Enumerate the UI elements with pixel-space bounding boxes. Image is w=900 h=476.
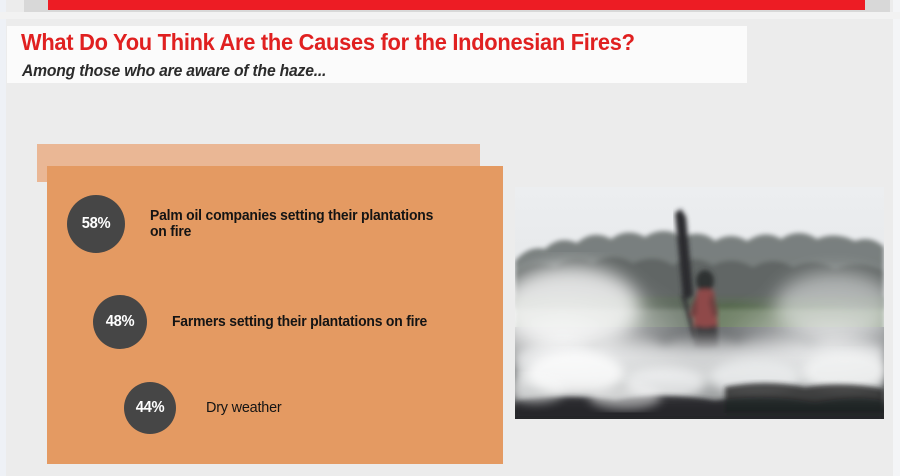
stat-value: 48% — [106, 313, 135, 331]
stat-row: 48% Farmers setting their plantations on… — [93, 295, 482, 349]
stat-value: 44% — [136, 399, 165, 417]
left-edge-divider — [0, 0, 6, 476]
stat-label: Palm oil companies setting their plantat… — [150, 208, 438, 240]
page-subtitle: Among those who are aware of the haze... — [22, 62, 725, 81]
stat-bubble: 48% — [93, 295, 147, 349]
fire-smoke-illustration — [515, 187, 884, 419]
stat-row: 58% Palm oil companies setting their pla… — [67, 195, 450, 253]
fire-smoke-photo — [515, 187, 884, 419]
top-red-accent-bar — [48, 0, 865, 10]
stat-value: 58% — [82, 215, 111, 233]
top-white-gap — [0, 12, 900, 19]
stat-bubble: 44% — [124, 382, 176, 434]
stat-label: Farmers setting their plantations on fir… — [172, 314, 470, 330]
stat-bubble: 58% — [67, 195, 125, 253]
page-title: What Do You Think Are the Causes for the… — [21, 29, 709, 56]
infographic-slide: What Do You Think Are the Causes for the… — [0, 0, 900, 476]
stat-row: 44% Dry weather — [124, 382, 466, 434]
right-edge-divider — [893, 0, 900, 476]
stat-label: Dry weather — [206, 400, 456, 417]
